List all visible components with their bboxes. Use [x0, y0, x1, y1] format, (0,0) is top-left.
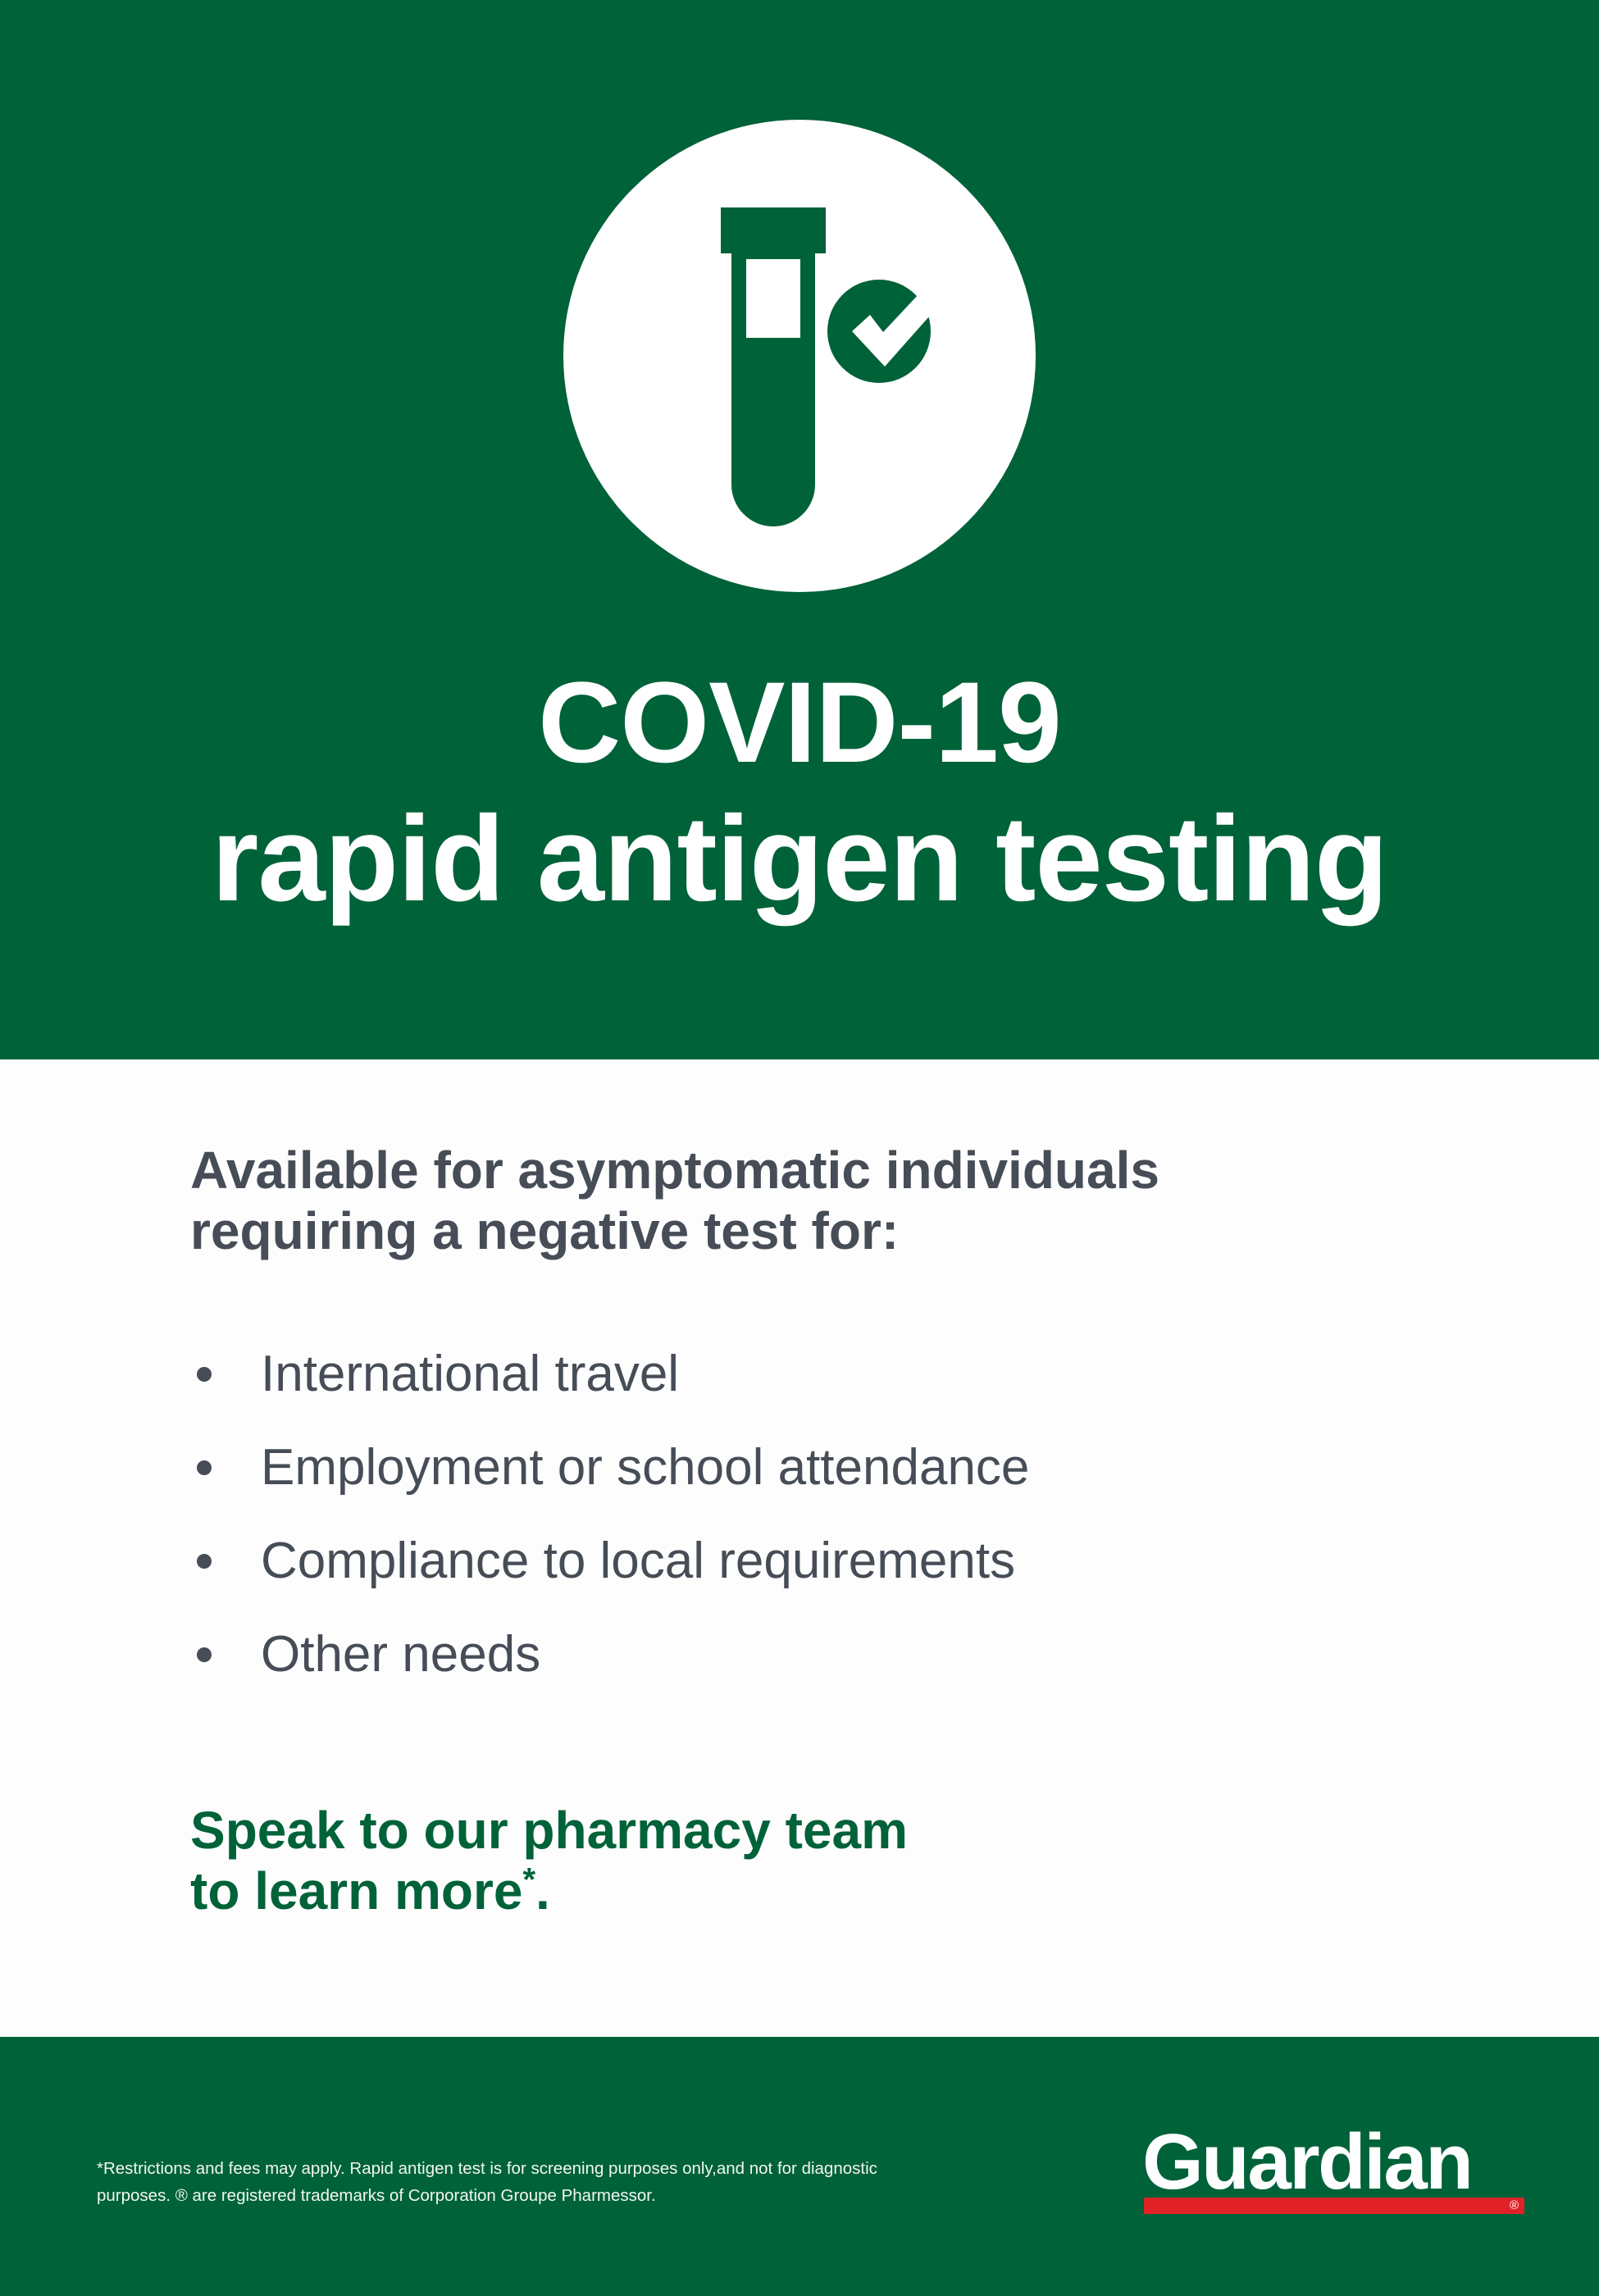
page-title: COVID-19 rapid antigen testing [0, 656, 1599, 930]
lede-text: Available for asymptomatic individuals r… [190, 1140, 1502, 1261]
test-tube-check-glyph [563, 120, 1036, 592]
list-item-label: Employment or school attendance [261, 1439, 1029, 1496]
poster: COVID-19 rapid antigen testing Available… [0, 0, 1599, 2296]
cta-line-2: to learn more*. [190, 1861, 1420, 1921]
lede-line-1: Available for asymptomatic individuals [190, 1140, 1502, 1200]
lede-line-2: requiring a negative test for: [190, 1200, 1502, 1261]
list-item-label: Other needs [261, 1626, 540, 1683]
bullet-dot-icon [197, 1647, 212, 1662]
cta-period: . [535, 1861, 550, 1920]
cta-line-1: Speak to our pharmacy team [190, 1800, 1420, 1861]
guardian-logo-red-bar [1144, 2198, 1524, 2214]
list-item: Other needs [190, 1629, 1519, 1680]
disclaimer-line-1: *Restrictions and fees may apply. Rapid … [97, 2155, 925, 2182]
guardian-logo-wordmark: Guardian [1142, 2123, 1524, 2202]
legal-disclaimer: *Restrictions and fees may apply. Rapid … [97, 2155, 925, 2209]
guardian-logo: Guardian ® [1142, 2128, 1524, 2236]
bullet-dot-icon [197, 1460, 212, 1475]
list-item-label: Compliance to local requirements [261, 1533, 1015, 1589]
title-line-2: rapid antigen testing [0, 789, 1599, 930]
title-line-1: COVID-19 [0, 656, 1599, 789]
footnote-marker: * [522, 1862, 535, 1898]
list-item: Employment or school attendance [190, 1442, 1519, 1493]
call-to-action: Speak to our pharmacy team to learn more… [190, 1800, 1420, 1921]
eligibility-list: International travel Employment or schoo… [190, 1349, 1519, 1723]
bullet-dot-icon [197, 1367, 212, 1382]
list-item: International travel [190, 1349, 1519, 1400]
test-tube-check-icon [563, 120, 1036, 592]
bullet-dot-icon [197, 1554, 212, 1569]
cta-line-2-text: to learn more [190, 1861, 522, 1920]
registered-trademark-icon: ® [1510, 2197, 1519, 2214]
list-item-label: International travel [261, 1346, 679, 1402]
list-item: Compliance to local requirements [190, 1536, 1519, 1587]
disclaimer-line-2: purposes. ® are registered trademarks of… [97, 2182, 925, 2209]
